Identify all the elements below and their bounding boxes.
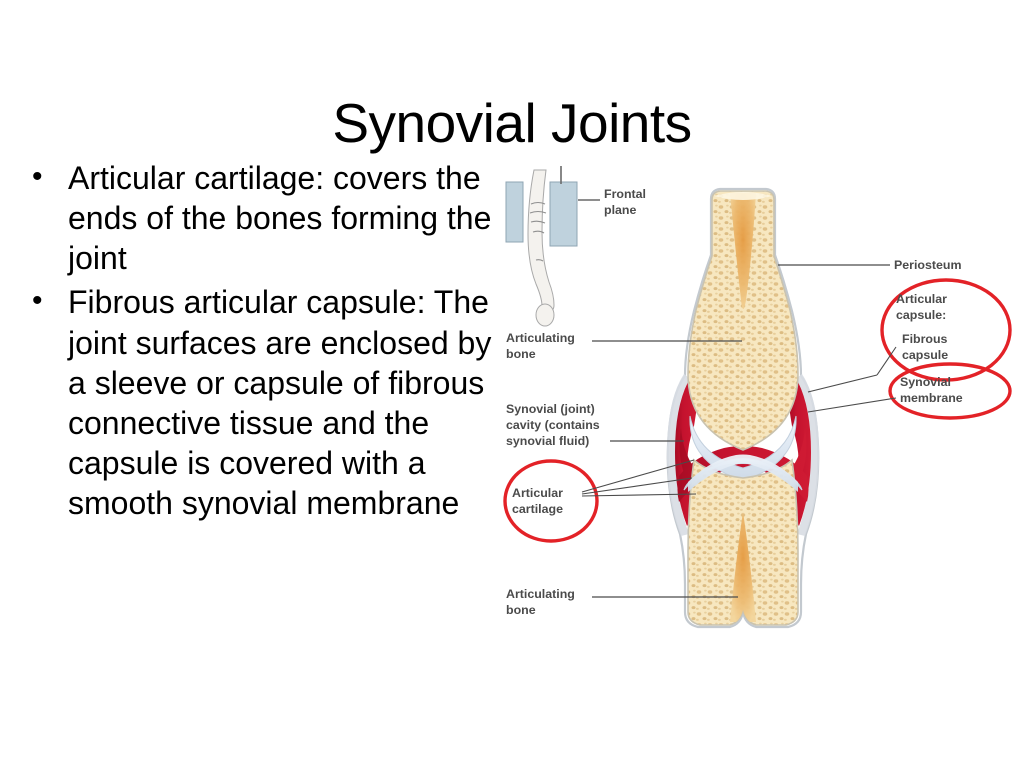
page-title: Synovial Joints [0,95,1024,153]
label-articular-cartilage-line-2: cartilage [512,502,563,516]
label-articulating-bone-top-line-2: bone [506,347,536,361]
inset-label-line-2: plane [604,203,636,217]
bullet-glyph: • [32,282,43,320]
bullet-glyph: • [32,158,43,196]
label-articular-cartilage-line-1: Articular [512,486,563,500]
list-item: • Fibrous articular capsule: The joint s… [16,282,496,523]
inset-label-line-1: Frontal [604,187,646,201]
label-articular-capsule-line-2: capsule: [896,308,946,322]
label-articulating-bone-bottom-line-1: Articulating [506,587,575,601]
synovial-joint-diagram: Frontal plane [498,160,1024,660]
bullet-text: Articular cartilage: covers the ends of … [68,160,491,276]
label-periosteum: Periosteum [894,258,961,272]
label-fibrous-capsule-line-2: capsule [902,348,948,362]
label-synovial-membrane-line-1: Synovial [900,375,951,389]
highlight-circle-articular-cartilage [505,461,597,541]
label-synovial-cavity-line-3: synovial fluid) [506,434,589,448]
frontal-plane-inset: Frontal plane [506,166,646,326]
list-item: • Articular cartilage: covers the ends o… [16,158,496,278]
bullet-list: • Articular cartilage: covers the ends o… [16,158,496,527]
right-label-group: Periosteum Articular capsule: Fibrous ca… [778,258,1010,418]
slide-canvas: Synovial Joints • Articular cartilage: c… [0,0,1024,768]
bullet-text: Fibrous articular capsule: The joint sur… [68,284,491,521]
label-synovial-cavity-line-1: Synovial (joint) [506,402,595,416]
label-fibrous-capsule-line-1: Fibrous [902,332,948,346]
label-synovial-membrane-line-2: membrane [900,391,963,405]
label-synovial-cavity-line-2: cavity (contains [506,418,600,432]
label-articulating-bone-bottom-line-2: bone [506,603,536,617]
joint-illustration [667,189,819,627]
label-articulating-bone-top-line-1: Articulating [506,331,575,345]
label-articular-capsule-line-1: Articular [896,292,947,306]
